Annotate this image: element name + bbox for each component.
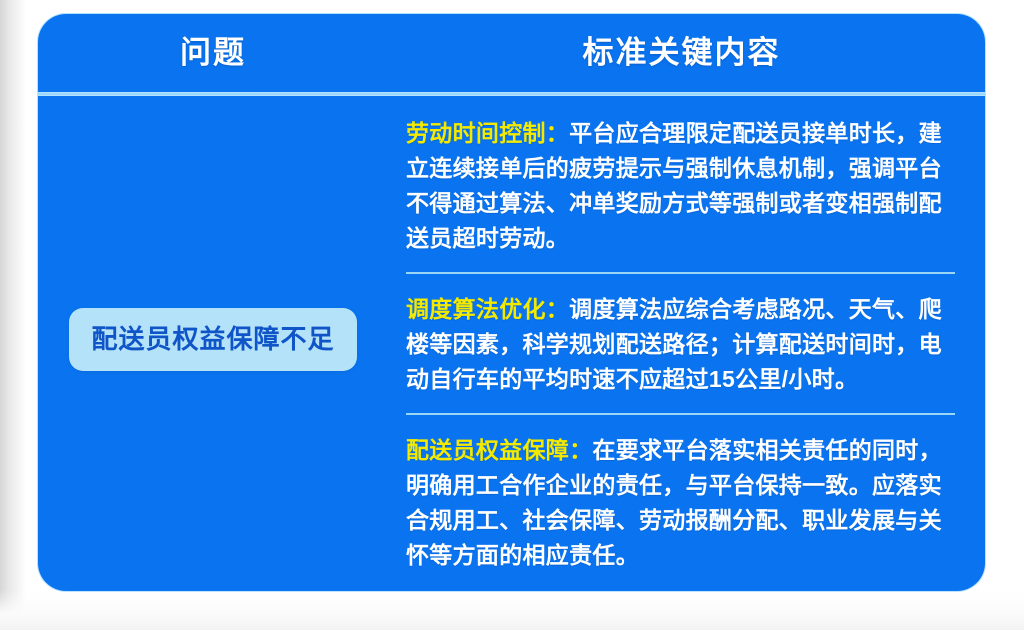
issue-column: 配送员权益保障不足 [38, 92, 388, 587]
header-title-standard: 标准关键内容 [583, 35, 781, 70]
standard-item: 劳动时间控制：平台应合理限定配送员接单时长，建立连续接单后的疲劳提示与强制休息机… [406, 108, 955, 266]
header-title-issue: 问题 [180, 35, 246, 70]
standard-item: 调度算法优化：调度算法应综合考虑路况、天气、爬楼等因素，科学规划配送路径；计算配… [406, 272, 955, 407]
issue-label-pill: 配送员权益保障不足 [69, 308, 356, 371]
page-bottom-shading [0, 590, 1024, 630]
standards-column: 劳动时间控制：平台应合理限定配送员接单时长，建立连续接单后的疲劳提示与强制休息机… [388, 92, 985, 587]
card-header: 问题 标准关键内容 [38, 14, 985, 92]
standard-paragraph: 调度算法优化：调度算法应综合考虑路况、天气、爬楼等因素，科学规划配送路径；计算配… [406, 292, 955, 397]
standard-item: 配送员权益保障：在要求平台落实相关责任的同时，明确用工合作企业的责任，与平台保持… [406, 413, 955, 583]
standard-lead-label: 配送员权益保障： [406, 437, 592, 463]
standard-lead-label: 调度算法优化： [406, 296, 569, 322]
standards-card: 问题 标准关键内容 配送员权益保障不足 劳动时间控制：平台应合理限定配送员接单时… [38, 14, 985, 591]
standard-paragraph: 配送员权益保障：在要求平台落实相关责任的同时，明确用工合作企业的责任，与平台保持… [406, 433, 955, 573]
standard-lead-label: 劳动时间控制： [406, 120, 569, 146]
header-cell-issue: 问题 [38, 36, 388, 70]
standard-paragraph: 劳动时间控制：平台应合理限定配送员接单时长，建立连续接单后的疲劳提示与强制休息机… [406, 116, 955, 256]
page-left-edge-shading [0, 0, 26, 630]
card-body: 配送员权益保障不足 劳动时间控制：平台应合理限定配送员接单时长，建立连续接单后的… [38, 92, 985, 587]
header-cell-standard: 标准关键内容 [388, 36, 985, 70]
